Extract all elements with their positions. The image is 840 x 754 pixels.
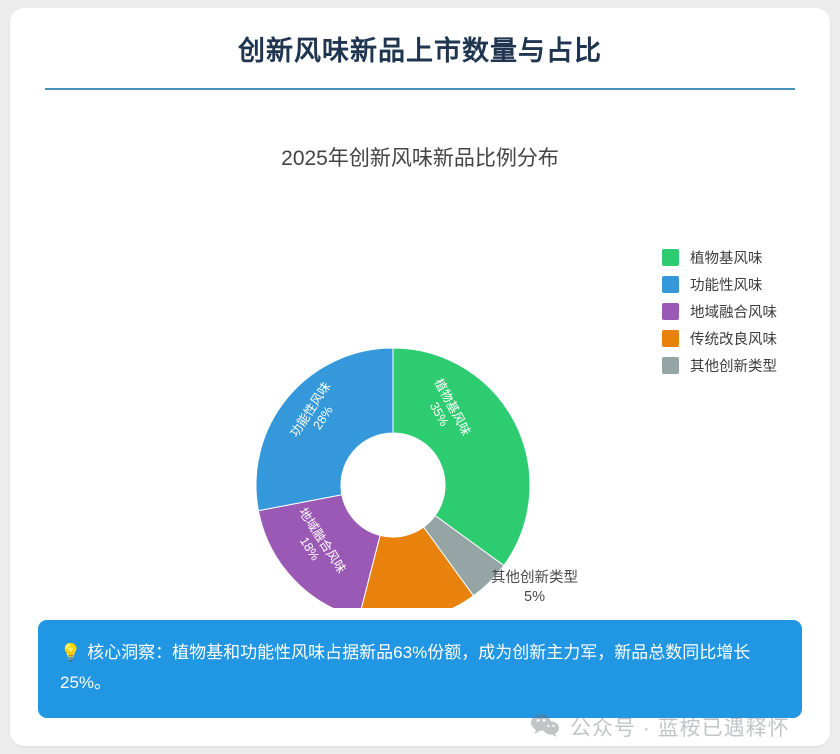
legend-swatch bbox=[662, 357, 679, 374]
lightbulb-icon: 💡 bbox=[60, 643, 81, 662]
legend-label: 传统改良风味 bbox=[690, 328, 777, 349]
title-divider bbox=[45, 88, 795, 90]
donut-slices bbox=[256, 348, 530, 608]
legend-swatch bbox=[662, 303, 679, 320]
donut-slice[interactable] bbox=[258, 495, 380, 608]
insight-text: 核心洞察：植物基和功能性风味占据新品63%份额，成为创新主力军，新品总数同比增长… bbox=[60, 643, 750, 692]
legend-swatch bbox=[662, 330, 679, 347]
chart-legend: 植物基风味功能性风味地域融合风味传统改良风味其他创新类型 bbox=[662, 245, 822, 380]
header: 创新风味新品上市数量与占比 bbox=[10, 8, 830, 90]
donut-slice[interactable] bbox=[256, 348, 393, 511]
legend-item[interactable]: 地域融合风味 bbox=[662, 299, 822, 323]
report-card: 创新风味新品上市数量与占比 2025年创新风味新品比例分布 植物基风味 35% … bbox=[10, 8, 830, 746]
legend-swatch bbox=[662, 249, 679, 266]
page-title: 创新风味新品上市数量与占比 bbox=[10, 32, 830, 70]
legend-item[interactable]: 其他创新类型 bbox=[662, 353, 822, 377]
legend-label: 其他创新类型 bbox=[690, 355, 777, 376]
legend-swatch bbox=[662, 276, 679, 293]
chart-section: 2025年创新风味新品比例分布 植物基风味 35% 功能性风味 28% 地域融合… bbox=[10, 118, 830, 608]
legend-label: 地域融合风味 bbox=[690, 301, 777, 322]
legend-item[interactable]: 植物基风味 bbox=[662, 245, 822, 269]
legend-label: 功能性风味 bbox=[690, 274, 763, 295]
insight-banner: 💡核心洞察：植物基和功能性风味占据新品63%份额，成为创新主力军，新品总数同比增… bbox=[38, 620, 802, 718]
legend-item[interactable]: 传统改良风味 bbox=[662, 326, 822, 350]
legend-label: 植物基风味 bbox=[690, 247, 763, 268]
legend-item[interactable]: 功能性风味 bbox=[662, 272, 822, 296]
